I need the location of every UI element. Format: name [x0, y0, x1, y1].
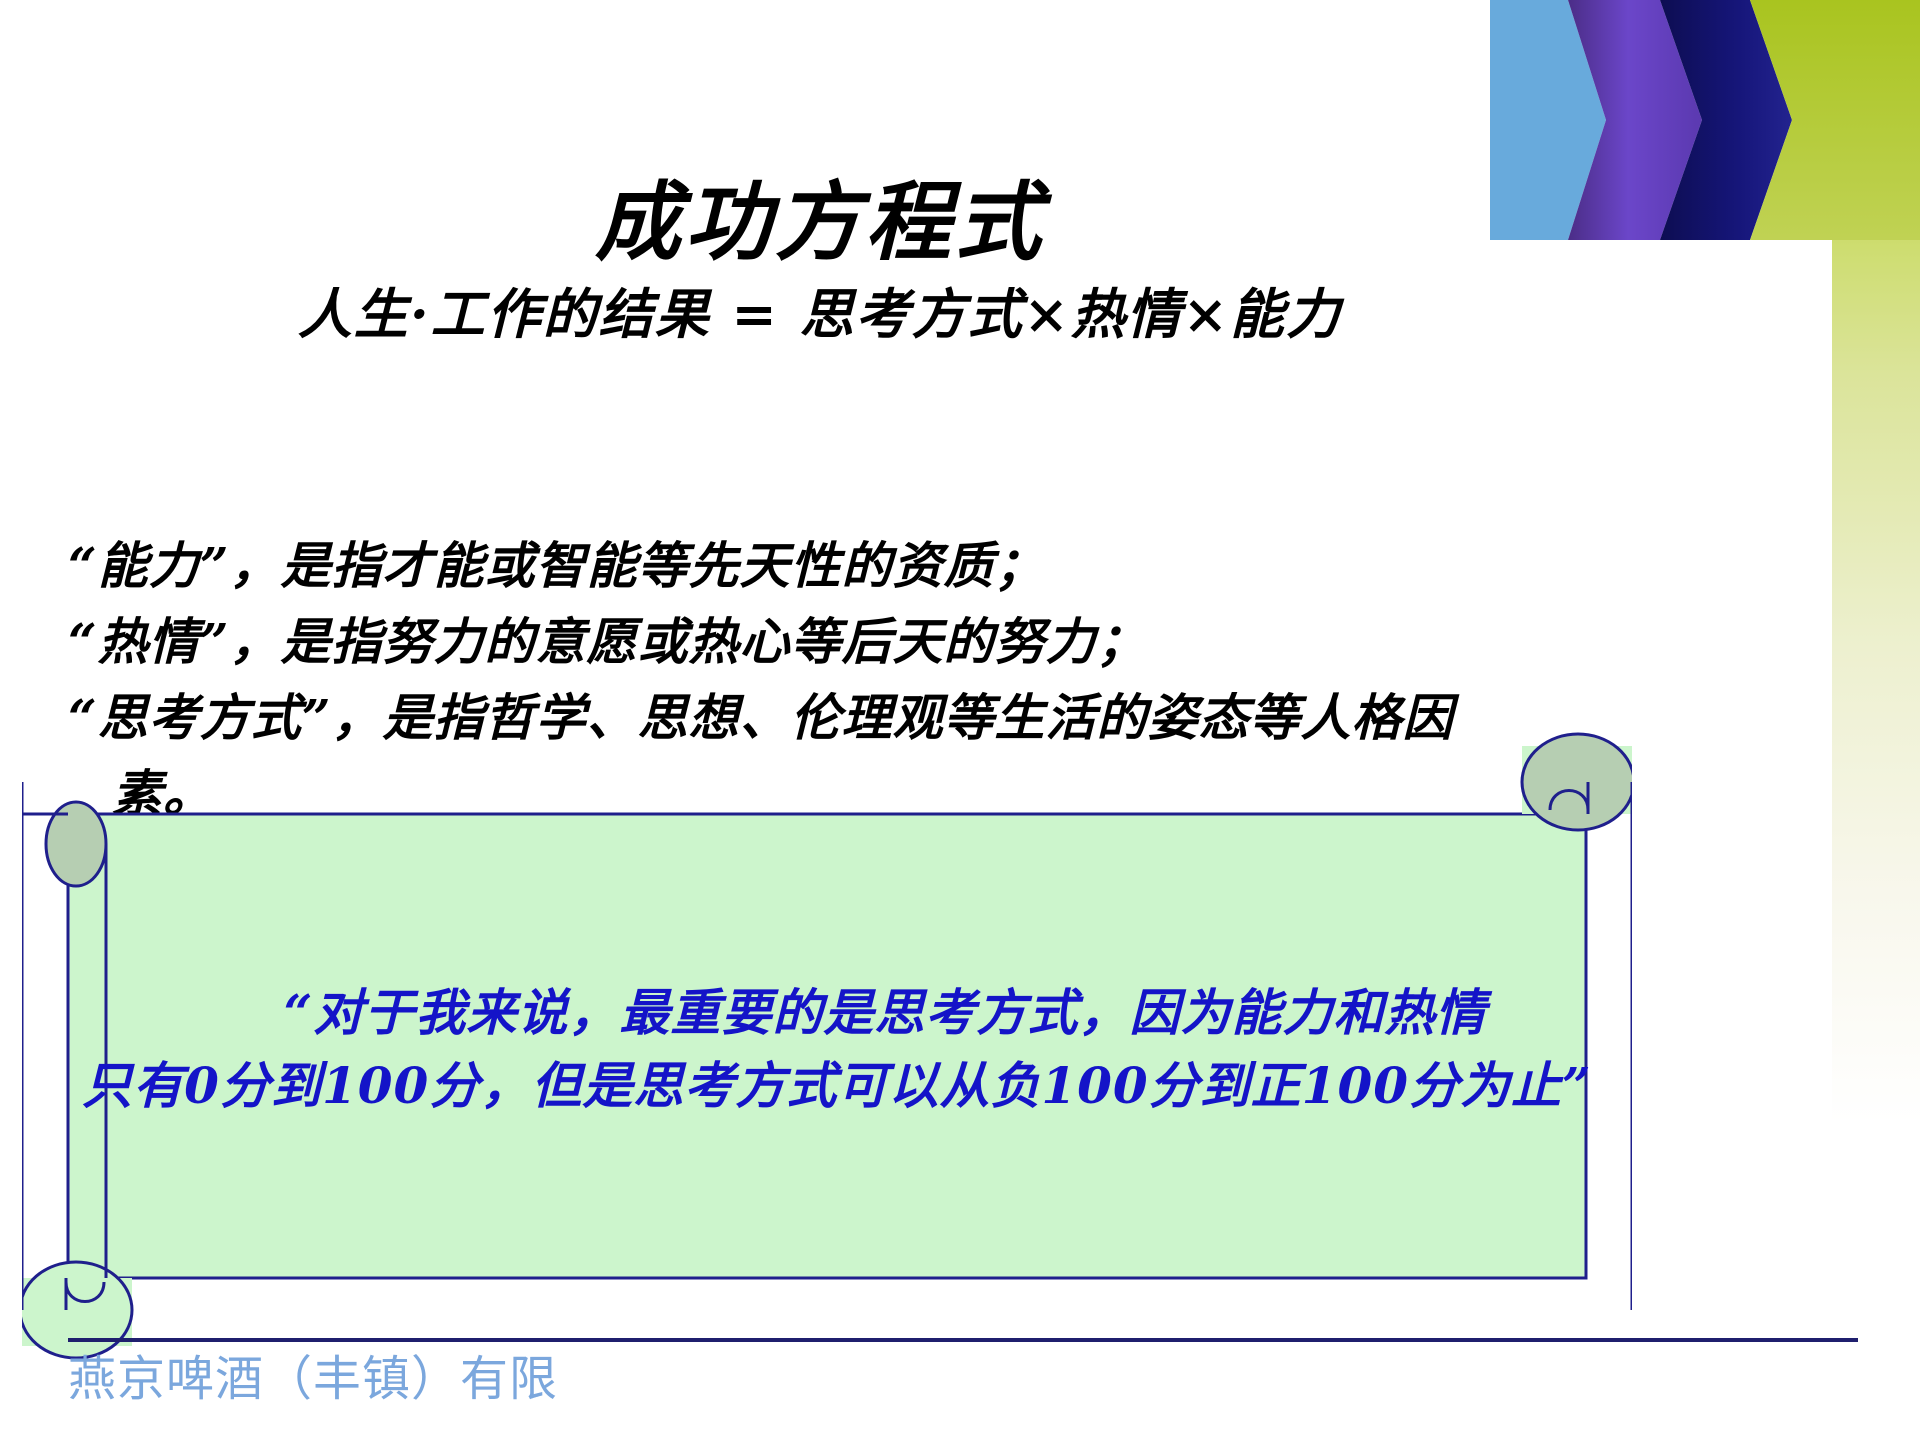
body-line-passion: “热情”，是指努力的意愿或热心等后天的努力； [68, 604, 1526, 680]
footer-divider [68, 1338, 1858, 1342]
scroll-roll-top-right [1522, 734, 1632, 830]
quote-line-1: “对于我来说，最重要的是思考方式，因为能力和热情 [82, 976, 1592, 1049]
scroll-right-bottom-cap [1586, 1278, 1632, 1310]
footer-company-name: 燕京啤酒（丰镇）有限 [68, 1352, 558, 1407]
green-gradient-band-top [1832, 0, 1920, 230]
slide-canvas: 成功方程式 人生·工作的结果 = 思考方式×热情×能力 “能力”，是指才能或智能… [0, 0, 1920, 1440]
title-block: 成功方程式 人生·工作的结果 = 思考方式×热情×能力 [0, 178, 1640, 345]
scroll-roll-bottom-left [22, 1262, 132, 1358]
page-subtitle: 人生·工作的结果 = 思考方式×热情×能力 [0, 285, 1640, 344]
body-line-ability: “能力”，是指才能或智能等先天性的资质； [68, 528, 1526, 604]
quote-line-2: 只有0分到100分，但是思考方式可以从负100分到正100分为止” [82, 1049, 1592, 1122]
scroll-banner: “对于我来说，最重要的是思考方式，因为能力和热情 只有0分到100分，但是思考方… [22, 726, 1632, 1366]
page-title: 成功方程式 [0, 178, 1640, 267]
chevron-navy-shape [1660, 0, 1792, 240]
quote-text-block: “对于我来说，最重要的是思考方式，因为能力和热情 只有0分到100分，但是思考方… [82, 976, 1592, 1122]
